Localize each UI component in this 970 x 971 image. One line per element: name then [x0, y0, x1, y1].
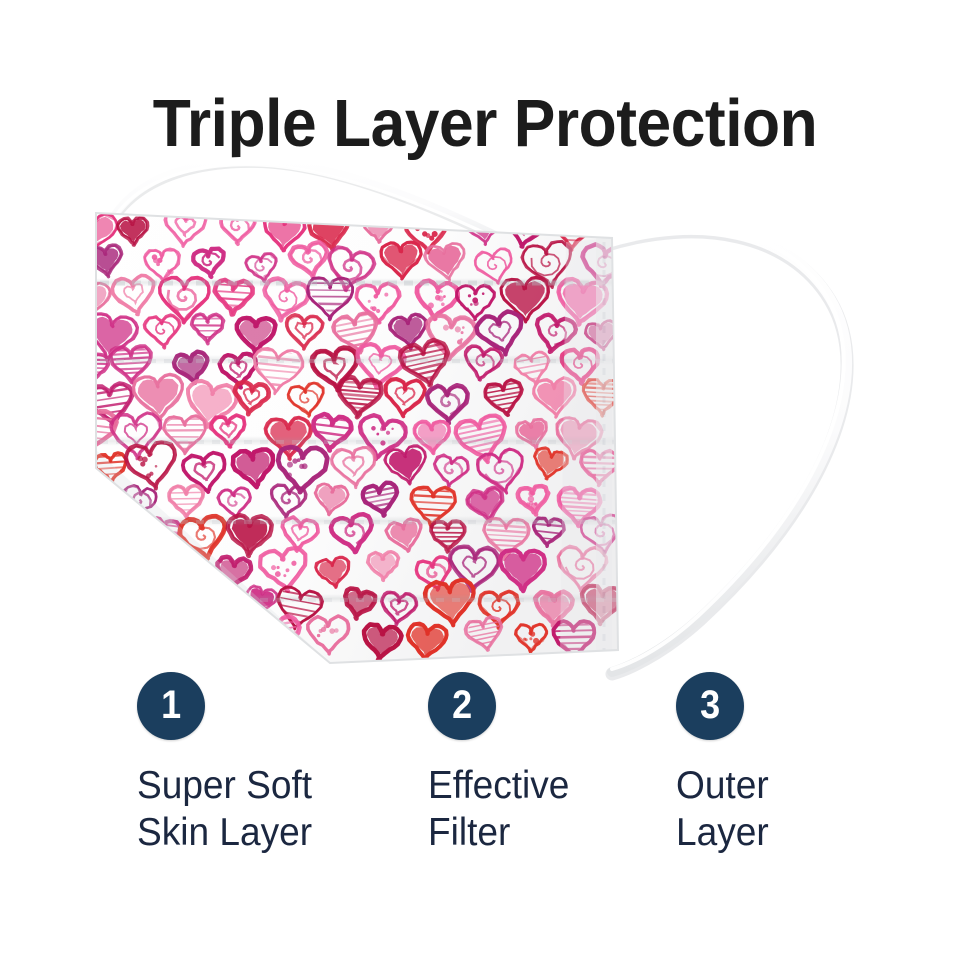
feature-list: 1 Super Soft Skin Layer 2 Effective Filt…	[0, 672, 970, 902]
feature-item-2: 2 Effective Filter	[428, 672, 577, 856]
feature-number-3: 3	[700, 685, 720, 725]
feature-number-1: 1	[161, 685, 181, 725]
feature-item-1: 1 Super Soft Skin Layer	[137, 672, 321, 856]
feature-item-3: 3 Outer Layer	[676, 672, 774, 856]
feature-badge-2: 2	[428, 672, 496, 740]
feature-label-1: Super Soft Skin Layer	[137, 762, 312, 856]
mask-body	[37, 181, 645, 682]
face-mask-illustration	[0, 150, 970, 690]
feature-label-3: Outer Layer	[676, 762, 769, 856]
feature-badge-3: 3	[676, 672, 744, 740]
feature-number-2: 2	[452, 685, 472, 725]
feature-badge-1: 1	[137, 672, 205, 740]
ear-loop-right-icon	[604, 228, 847, 674]
infographic-canvas: Triple Layer Protection	[0, 0, 970, 971]
feature-label-2: Effective Filter	[428, 762, 569, 856]
